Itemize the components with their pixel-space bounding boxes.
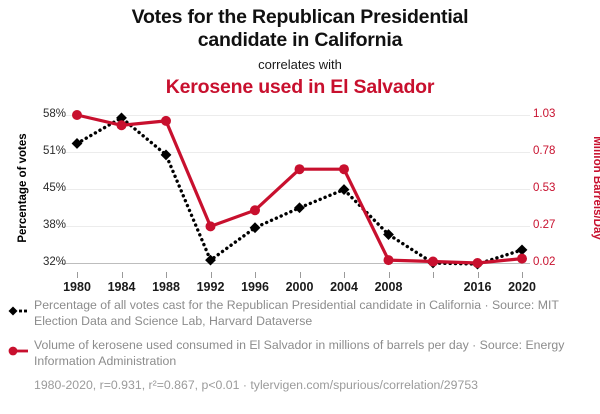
x-axis-tick-label: 2016 — [464, 280, 492, 294]
x-axis-tickmark — [300, 272, 301, 278]
x-axis-tick-label: 2004 — [330, 280, 358, 294]
chart-page: Votes for the Republican Presidential ca… — [0, 0, 600, 414]
x-axis-tick-label: 2020 — [508, 280, 536, 294]
x-axis-tickmark — [77, 272, 78, 278]
x-axis-tickmark — [255, 272, 256, 278]
legend-marker-diamond-dotted-icon — [8, 298, 34, 321]
x-axis-tickmark — [211, 272, 212, 278]
x-axis-tickmark — [389, 272, 390, 278]
title-line-1: Votes for the Republican Presidential — [0, 6, 600, 29]
x-axis-tickmark — [122, 272, 123, 278]
title-line-2: candidate in California — [0, 29, 600, 52]
x-axis-tick-label: 2008 — [375, 280, 403, 294]
x-axis-tick-label: 1996 — [241, 280, 269, 294]
title-block: Votes for the Republican Presidential ca… — [0, 0, 600, 99]
legend-label-votes: Percentage of all votes cast for the Rep… — [34, 298, 592, 329]
footer-stats: 1980-2020, r=0.931, r²=0.867, p<0.01 · t… — [34, 378, 592, 394]
correlates-with-label: correlates with — [0, 57, 600, 72]
page-title: Votes for the Republican Presidential ca… — [0, 6, 600, 52]
legend-item-kerosene: Volume of kerosene used consumed in El S… — [8, 338, 592, 369]
legend-item-votes: Percentage of all votes cast for the Rep… — [8, 298, 592, 329]
x-axis-tick-label: 2000 — [286, 280, 314, 294]
x-axis-tick-label: 1984 — [108, 280, 136, 294]
legend: Percentage of all votes cast for the Rep… — [8, 298, 592, 394]
x-axis-tick-label: 1980 — [63, 280, 91, 294]
legend-label-kerosene: Volume of kerosene used consumed in El S… — [34, 338, 592, 369]
x-axis-tickmark — [433, 272, 434, 278]
x-axis-tickmark — [344, 272, 345, 278]
x-axis-tick-label: 1988 — [152, 280, 180, 294]
x-axis-tickmark — [522, 272, 523, 278]
x-axis-tickmark — [478, 272, 479, 278]
legend-marker-circle-solid-icon — [8, 338, 34, 361]
plot-lines — [0, 104, 600, 294]
x-axis-tick-label: 1992 — [197, 280, 225, 294]
x-axis-tickmark — [166, 272, 167, 278]
chart-area: Percentage of votes Million Barrels/Day … — [0, 104, 600, 294]
secondary-title: Kerosene used in El Salvador — [0, 76, 600, 99]
